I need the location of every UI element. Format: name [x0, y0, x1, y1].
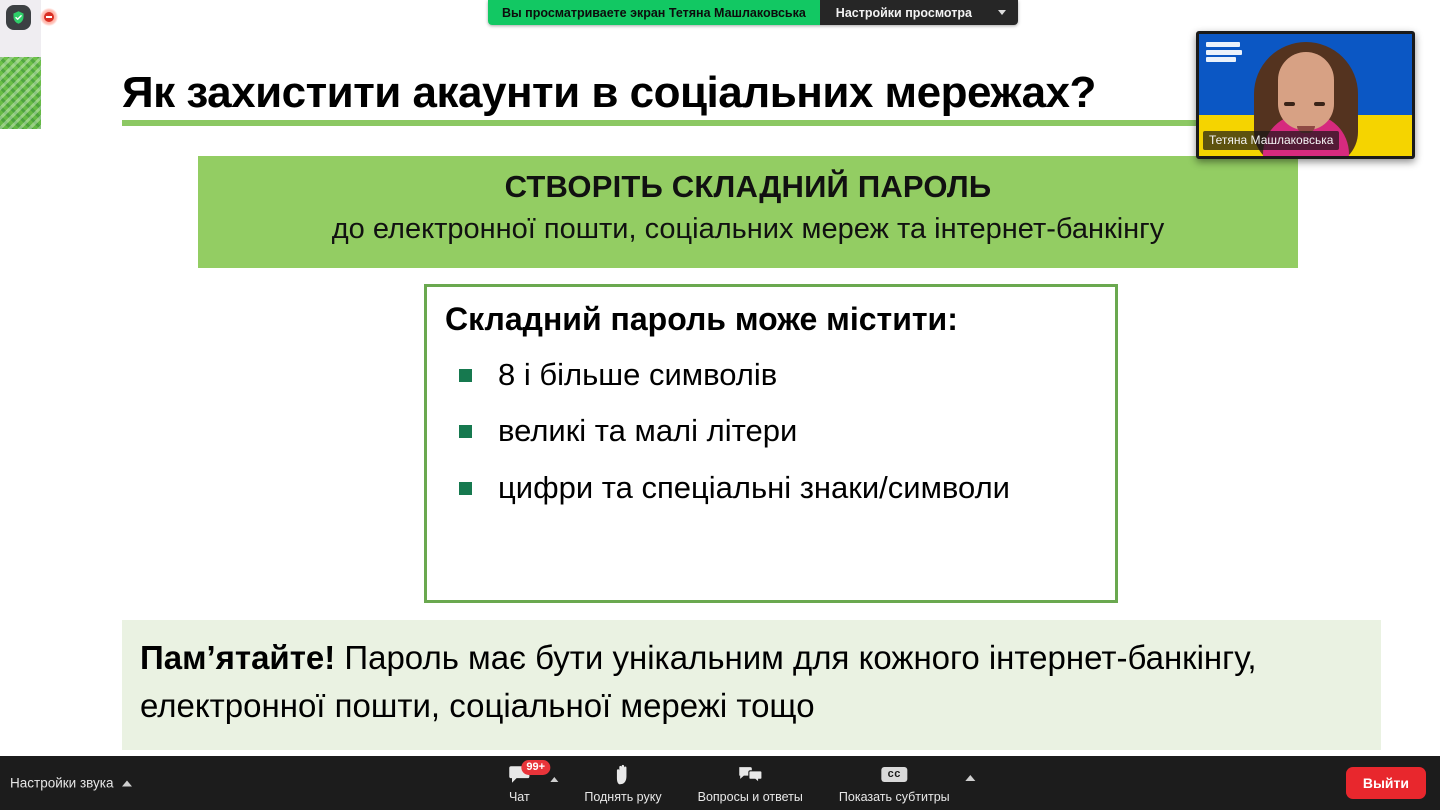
recording-stop-inner — [44, 12, 54, 22]
logo-line — [1206, 57, 1236, 62]
title-underline-rule — [122, 120, 1328, 126]
zoom-meeting-window: Як захистити акаунти в соціальних мережа… — [0, 0, 1440, 810]
banner-subheading: до електронної пошти, соціальних мереж т… — [198, 211, 1298, 249]
closed-captions-icon: cc — [839, 763, 950, 787]
show-captions-button[interactable]: cc Показать субтитры — [839, 763, 950, 804]
toolbar-center-group: 99+ Чат Поднять руку — [490, 756, 949, 810]
chat-unread-badge: 99+ — [521, 760, 550, 775]
raise-hand-icon — [584, 763, 661, 787]
audio-settings-label: Настройки звука — [10, 776, 113, 791]
chevron-down-icon — [998, 10, 1006, 15]
list-item-label: цифри та спеціальні знаки/символи — [498, 468, 1010, 508]
recording-stop-icon[interactable] — [40, 8, 58, 26]
meeting-toolbar: Настройки звука 99+ Чат — [0, 756, 1440, 810]
list-item-label: 8 і більше символів — [498, 355, 777, 395]
recording-stop-bar — [46, 16, 52, 18]
chat-label: Чат — [490, 790, 548, 804]
square-bullet-icon — [459, 369, 472, 382]
note-text: Пам’ятайте! Пароль має бути унікальним д… — [140, 634, 1363, 730]
participant-face — [1278, 52, 1334, 130]
participant-name-label: Тетяна Машлаковська — [1203, 131, 1339, 150]
note-bold-lead: Пам’ятайте! — [140, 639, 335, 676]
chat-button[interactable]: 99+ Чат — [490, 763, 548, 804]
remember-note-box: Пам’ятайте! Пароль має бути унікальним д… — [122, 620, 1381, 750]
decorative-texture-block — [0, 57, 41, 129]
cc-badge: cc — [882, 767, 907, 782]
square-bullet-icon — [459, 425, 472, 438]
qa-label: Вопросы и ответы — [698, 790, 803, 804]
chevron-up-icon — [122, 780, 132, 786]
qa-button[interactable]: Вопросы и ответы — [698, 763, 803, 804]
raise-hand-button[interactable]: Поднять руку — [584, 763, 661, 804]
audio-settings-button[interactable]: Настройки звука — [10, 776, 132, 791]
leave-meeting-button[interactable]: Выйти — [1346, 767, 1426, 799]
view-settings-button[interactable]: Настройки просмотра — [820, 0, 1018, 25]
sharing-status-label: Вы просматриваете экран Тетяна Машлаковс… — [488, 0, 820, 25]
square-bullet-icon — [459, 482, 472, 495]
chevron-up-icon[interactable] — [550, 777, 558, 782]
logo-line — [1206, 50, 1242, 55]
slide-title: Як захистити акаунти в соціальних мережа… — [122, 68, 1222, 118]
participant-eye-right — [1314, 102, 1325, 106]
logo-line — [1206, 42, 1240, 47]
show-captions-label: Показать субтитры — [839, 790, 950, 804]
banner-heading: СТВОРІТЬ СКЛАДНИЙ ПАРОЛЬ — [198, 168, 1298, 207]
shield-check-icon[interactable] — [6, 5, 31, 30]
password-requirements-box: Складний пароль може містити: 8 і більше… — [424, 284, 1118, 603]
chevron-up-icon[interactable] — [966, 775, 976, 781]
global-money-week-logo-icon — [1206, 42, 1244, 62]
participant-video-tile[interactable]: Тетяна Машлаковська — [1196, 31, 1415, 159]
raise-hand-label: Поднять руку — [584, 790, 661, 804]
view-settings-label: Настройки просмотра — [836, 6, 972, 20]
participant-eye-left — [1284, 102, 1295, 106]
list-item: цифри та спеціальні знаки/символи — [445, 468, 1097, 508]
list-item: великі та малі літери — [445, 411, 1097, 451]
green-banner: СТВОРІТЬ СКЛАДНИЙ ПАРОЛЬ до електронної … — [198, 156, 1298, 268]
list-item-label: великі та малі літери — [498, 411, 797, 451]
screen-share-bar: Вы просматриваете экран Тетяна Машлаковс… — [488, 0, 1018, 25]
list-item: 8 і більше символів — [445, 355, 1097, 395]
qa-bubbles-icon — [698, 763, 803, 787]
list-box-title: Складний пароль може містити: — [445, 299, 1097, 339]
